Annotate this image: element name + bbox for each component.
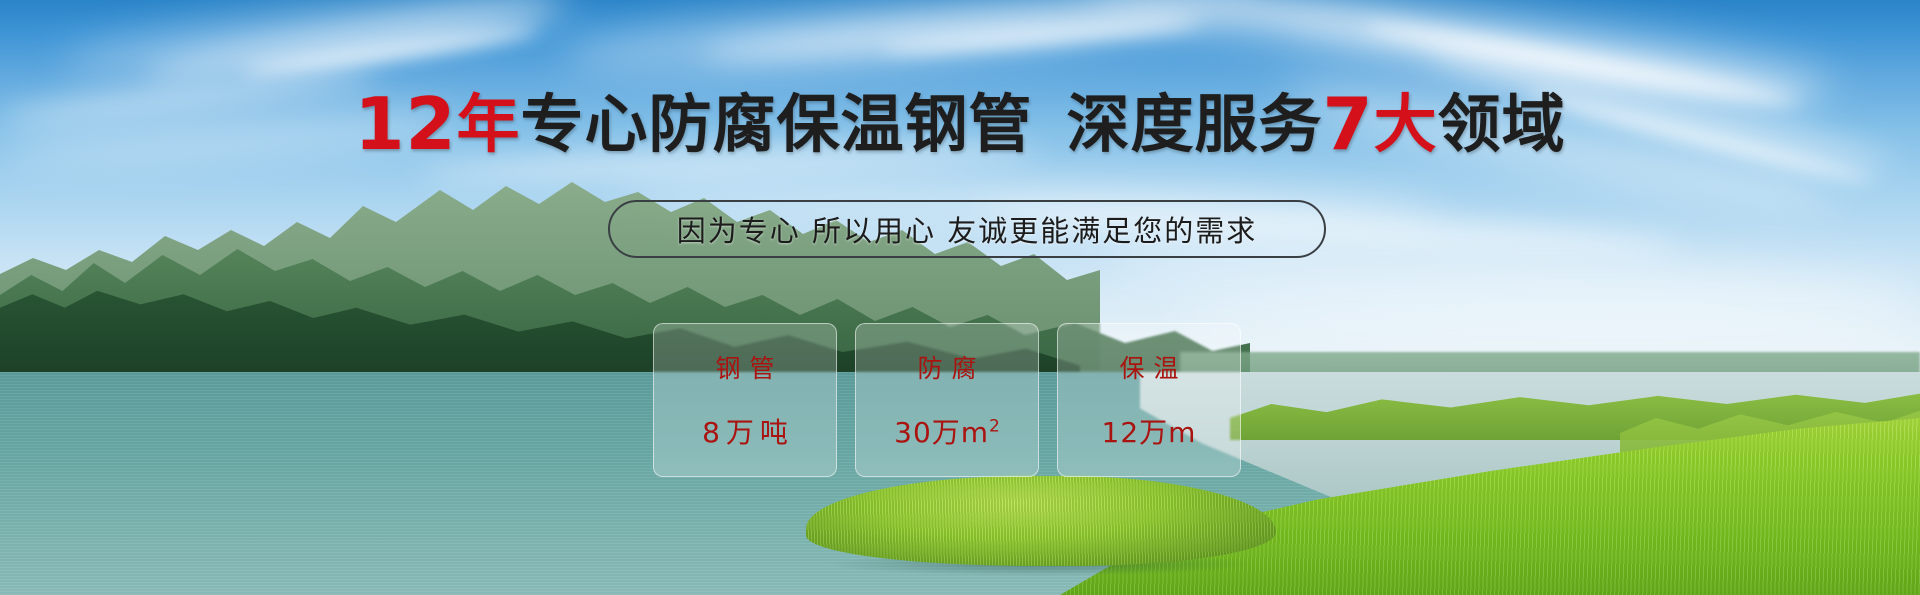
headline: 12年专心防腐保温钢管深度服务7大领域: [0, 88, 1920, 160]
headline-service-text: 深度服务: [1067, 88, 1323, 161]
headline-years-number: 12: [354, 82, 456, 166]
stat-card-value-text: 30万m: [894, 416, 989, 449]
stat-card-value: 8万吨: [696, 411, 794, 451]
headline-fields-tail: 领域: [1438, 88, 1566, 161]
headline-years-unit: 年: [457, 88, 521, 161]
stat-card-steel-pipe[interactable]: 钢管 8万吨: [653, 323, 837, 477]
stat-card-label: 保温: [1110, 349, 1187, 385]
headline-fields-unit: 大: [1374, 88, 1438, 161]
stat-card-group: 钢管 8万吨 防腐 30万m2 保温 12万m: [653, 323, 1297, 477]
stat-card-anticorrosion[interactable]: 防腐 30万m2: [855, 323, 1039, 477]
grass-island-texture: [806, 476, 1276, 566]
stat-card-value-text: 8万吨: [702, 416, 794, 449]
headline-main-text: 专心防腐保温钢管: [521, 88, 1033, 161]
stat-card-value: 30万m2: [894, 411, 1000, 451]
stat-card-label: 防腐: [908, 349, 985, 385]
stat-card-insulation[interactable]: 保温 12万m: [1057, 323, 1241, 477]
subtitle-pill: 因为专心 所以用心 友诚更能满足您的需求: [608, 200, 1326, 258]
subtitle-text: 因为专心 所以用心 友诚更能满足您的需求: [677, 208, 1257, 250]
stat-card-value: 12万m: [1102, 411, 1197, 451]
stat-card-value-text: 12万m: [1102, 416, 1197, 449]
stat-card-label: 钢管: [706, 349, 783, 385]
promo-banner: 12年专心防腐保温钢管深度服务7大领域 因为专心 所以用心 友诚更能满足您的需求…: [0, 0, 1920, 595]
headline-fields-number: 7: [1323, 82, 1374, 166]
stat-card-value-superscript: 2: [989, 417, 1000, 437]
